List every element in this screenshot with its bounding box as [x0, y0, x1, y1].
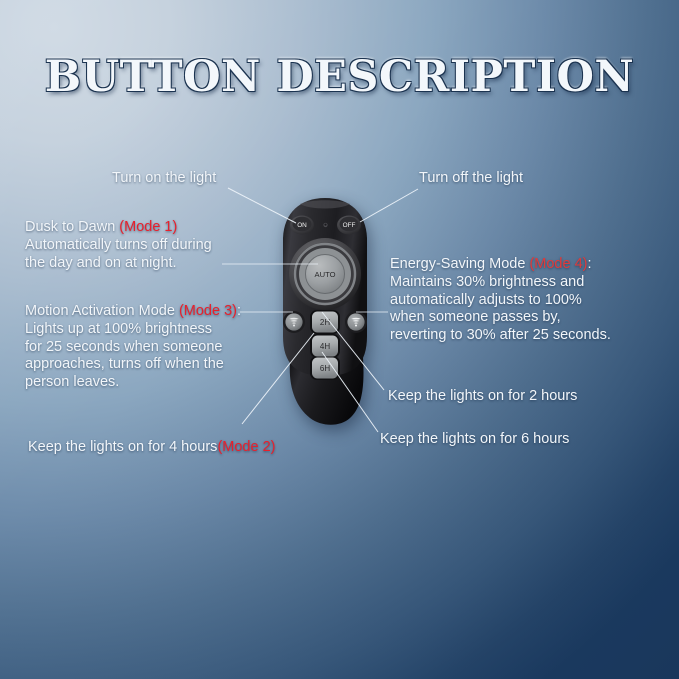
page-title: BUTTON DESCRIPTION	[0, 52, 679, 102]
annotation-hours-2-label: Keep the lights on for 2 hours	[388, 388, 577, 404]
annotation-turn-on: Turn on the light	[112, 170, 216, 188]
annotation-energy-heading: Energy-Saving Mode (Mode 4):	[390, 256, 611, 274]
motion-heading-tail: :	[237, 303, 241, 319]
motion-line-2: Lights up at 100% brightness	[25, 321, 241, 339]
leader-6h	[322, 352, 378, 432]
annotation-hours-2: Keep the lights on for 2 hours	[388, 388, 577, 406]
dusk-line-2: Automatically turns off during	[25, 237, 212, 255]
energy-line-3: automatically adjusts to 100%	[390, 292, 611, 310]
hours-4-mode-tag: (Mode 2)	[217, 439, 275, 455]
energy-line-4: when someone passes by,	[390, 309, 611, 327]
leader-2h	[322, 312, 384, 390]
annotation-turn-on-label: Turn on the light	[112, 170, 216, 186]
annotation-hours-6-label: Keep the lights on for 6 hours	[380, 431, 569, 447]
energy-line-2: Maintains 30% brightness and	[390, 274, 611, 292]
energy-heading-tail: :	[587, 256, 591, 272]
energy-line-5: reverting to 30% after 25 seconds.	[390, 327, 611, 345]
dusk-heading-text: Dusk to Dawn	[25, 219, 119, 235]
dusk-line-3: the day and on at night.	[25, 255, 212, 273]
annotation-hours-4: Keep the lights on for 4 hours(Mode 2)	[28, 439, 275, 457]
motion-heading-text: Motion Activation Mode	[25, 303, 179, 319]
motion-mode-tag: (Mode 3)	[179, 303, 237, 319]
dusk-mode-tag: (Mode 1)	[119, 219, 177, 235]
leader-4h	[242, 333, 314, 424]
annotation-energy-saving: Energy-Saving Mode (Mode 4): Maintains 3…	[390, 256, 611, 345]
annotation-turn-off-label: Turn off the light	[419, 170, 523, 186]
leader-turn-off	[360, 189, 418, 222]
annotation-motion-activation: Motion Activation Mode (Mode 3): Lights …	[25, 303, 241, 392]
energy-heading-text: Energy-Saving Mode	[390, 256, 529, 272]
product-infographic: BUTTON DESCRIPTION	[0, 0, 679, 679]
annotation-hours-4-label: Keep the lights on for 4 hours	[28, 439, 217, 455]
annotation-turn-off: Turn off the light	[419, 170, 523, 188]
leader-turn-on	[228, 188, 296, 223]
energy-mode-tag: (Mode 4)	[529, 256, 587, 272]
motion-line-4: approaches, turns off when the	[25, 356, 241, 374]
motion-line-3: for 25 seconds when someone	[25, 339, 241, 357]
annotation-hours-6: Keep the lights on for 6 hours	[380, 431, 569, 449]
annotation-dusk-to-dawn-heading: Dusk to Dawn (Mode 1)	[25, 219, 212, 237]
motion-line-5: person leaves.	[25, 374, 241, 392]
annotation-dusk-to-dawn: Dusk to Dawn (Mode 1) Automatically turn…	[25, 219, 212, 272]
annotation-motion-heading: Motion Activation Mode (Mode 3):	[25, 303, 241, 321]
